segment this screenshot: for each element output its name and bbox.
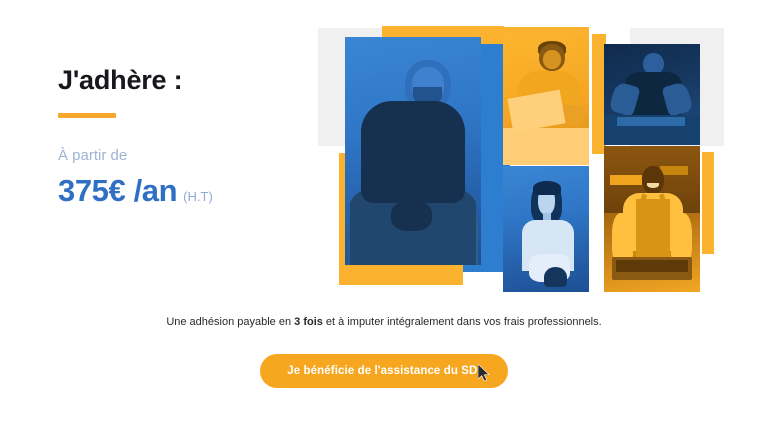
- payment-note: Une adhésion payable en 3 fois et à impu…: [0, 315, 768, 330]
- hero-text-column: J'adhère : À partir de 375€ /an (H.T): [58, 66, 308, 209]
- photo-portrait-seated-man: [345, 37, 481, 265]
- page-title: J'adhère :: [58, 66, 308, 96]
- price-prefix-label: À partir de: [58, 148, 308, 165]
- price-tax-note: (H.T): [183, 189, 213, 204]
- title-underline-accent: [58, 113, 116, 118]
- photo-woman-seated: [503, 166, 589, 292]
- photo-chef-preparing-food: [604, 44, 700, 145]
- decorative-block-orange-right: [702, 152, 714, 254]
- price-line: 375€ /an (H.T): [58, 173, 308, 209]
- payment-note-emphasis: 3 fois: [294, 316, 323, 328]
- page-root: J'adhère : À partir de 375€ /an (H.T) Un…: [0, 0, 768, 432]
- price-amount: 375€ /an: [58, 173, 177, 209]
- photo-smiling-man-with-apron: [604, 146, 700, 292]
- photo-man-reviewing-papers: [503, 34, 589, 165]
- payment-note-after: et à imputer intégralement dans vos frai…: [323, 316, 602, 328]
- payment-note-before: Une adhésion payable en: [166, 316, 294, 328]
- join-sdi-button[interactable]: Je bénéficie de l'assistance du SDI: [260, 354, 508, 388]
- cta-container: Je bénéficie de l'assistance du SDI: [0, 354, 768, 388]
